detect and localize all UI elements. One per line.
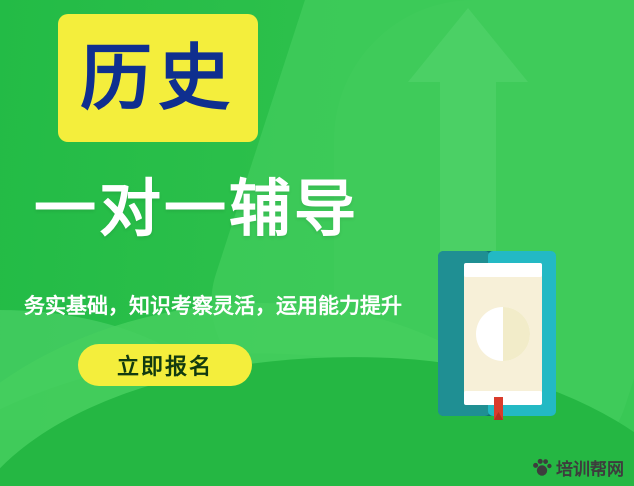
enroll-now-button-label: 立即报名 [117, 349, 213, 381]
watermark: 培训帮网 [532, 455, 624, 480]
up-arrow-icon [408, 8, 528, 268]
subtitle-text: 务实基础，知识考察灵活，运用能力提升 [24, 290, 402, 320]
subject-badge-label: 历史 [80, 42, 236, 114]
paw-logo-icon [532, 458, 552, 478]
promo-banner: 历史 一对一辅导 务实基础，知识考察灵活，运用能力提升 立即报名 [0, 0, 634, 486]
book-icon [434, 245, 560, 420]
enroll-now-button[interactable]: 立即报名 [78, 344, 252, 386]
subject-badge: 历史 [58, 14, 258, 142]
page-title: 一对一辅导 [34, 178, 359, 240]
watermark-label: 培训帮网 [556, 455, 624, 480]
